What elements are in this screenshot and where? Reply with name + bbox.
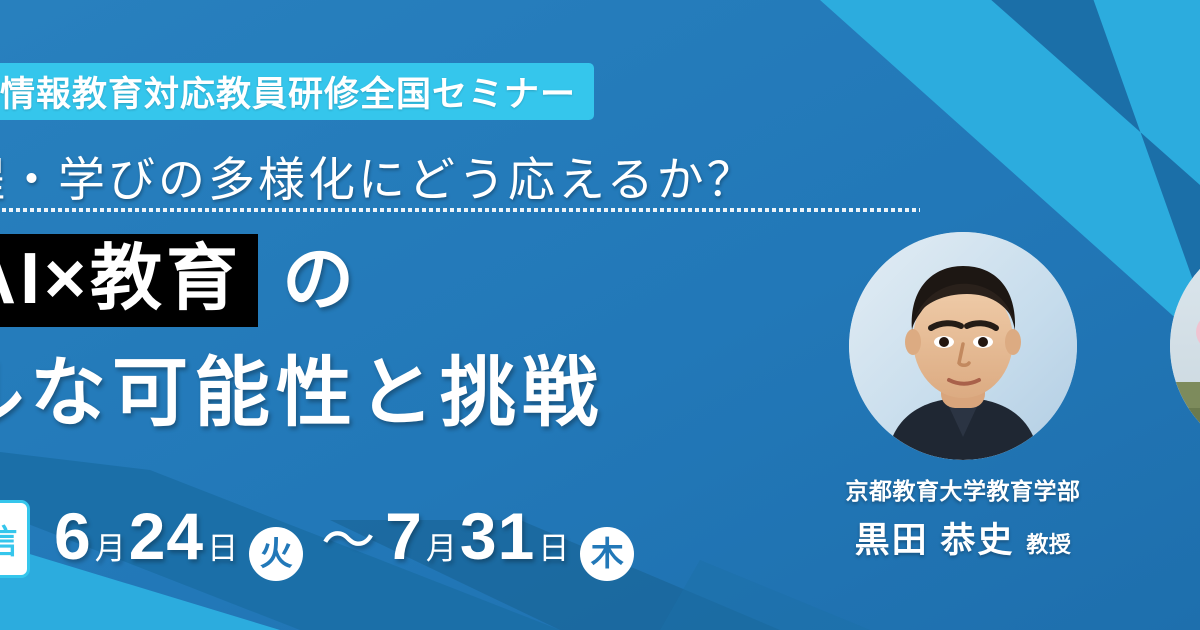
speaker-1-affiliation: 京都教育大学教育学部 [818, 472, 1108, 506]
speaker-1-name: 黒田 恭史 [855, 512, 1015, 563]
category-badge: 情報教育対応教員研修全国セミナー [0, 63, 594, 120]
delivery-badge: 信 [0, 500, 30, 578]
delivery-badge-label: 信 [0, 515, 18, 563]
seminar-banner: 情報教育対応教員研修全国セミナー 程・学びの多様化にどう応えるか？ AI×教育 … [0, 0, 1200, 630]
bottom-dark-wedge [660, 560, 870, 630]
start-month-unit: 月 [95, 533, 126, 564]
start-day-unit: 日 [207, 533, 238, 564]
schedule-row: 信 6 月 24 日 火 〜 7 月 31 日 木 [0, 497, 642, 581]
headline-highlight-box: AI×教育 [0, 234, 258, 327]
headline-line-1: AI×教育 の [0, 222, 604, 338]
headline-line-2-text: ルな可能性と挑戦 [0, 356, 604, 432]
speaker-1-portrait [849, 232, 1077, 460]
headline-line-2: ルな可能性と挑戦 [0, 342, 604, 446]
start-month-number: 6 [54, 503, 92, 569]
end-month-unit: 月 [426, 533, 457, 564]
start-day-number: 24 [129, 503, 204, 569]
speaker-card-2: 群馬 [1139, 232, 1200, 512]
end-month-number: 7 [385, 503, 423, 569]
subtitle-text: 程・学びの多様化にどう応えるか？ [0, 141, 757, 210]
end-day-number: 31 [460, 503, 535, 569]
subtitle-dotted-rule [0, 208, 920, 212]
end-day-unit: 日 [538, 533, 569, 564]
speaker-1-name-row: 黒田 恭史 教授 [818, 512, 1108, 563]
headline-group: AI×教育 の ルな可能性と挑戦 [0, 222, 604, 446]
speaker-2-affiliation: 群馬 [1139, 472, 1200, 506]
date-range-mark: 〜 [321, 514, 375, 568]
speaker-2-portrait [1170, 232, 1200, 460]
schedule-date-text: 6 月 24 日 火 〜 7 月 31 日 木 [54, 503, 642, 575]
category-badge-label: 情報教育対応教員研修全国セミナー [0, 66, 576, 117]
headline-suffix: の [282, 244, 358, 316]
speaker-1-title: 教授 [1026, 527, 1071, 559]
end-weekday-badge: 木 [580, 527, 634, 581]
start-weekday-badge: 火 [249, 527, 303, 581]
speaker-card-1: 京都教育大学教育学部 黒田 恭史 教授 [818, 232, 1108, 563]
